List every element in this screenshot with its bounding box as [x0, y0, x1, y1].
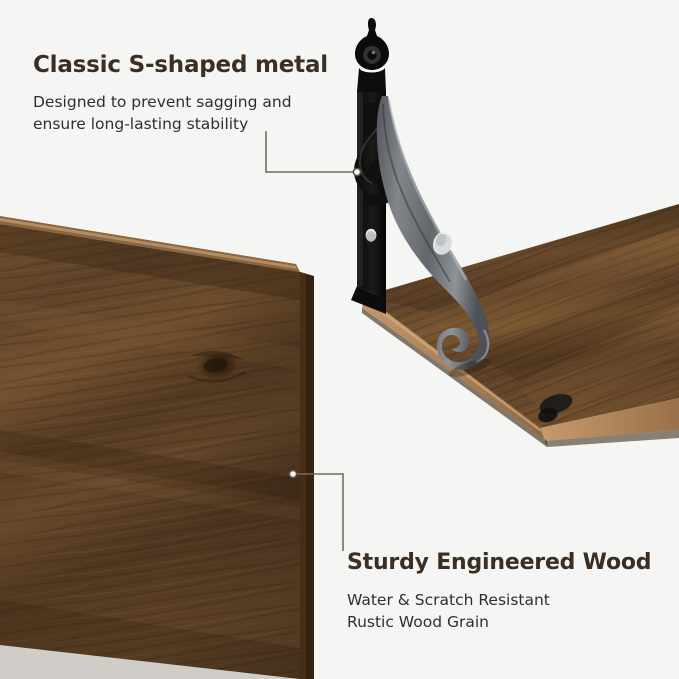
callout-top-body: Designed to prevent sagging and ensure l… [33, 91, 363, 135]
callout-bottom-body-line-1: Water & Scratch Resistant [347, 589, 667, 611]
callout-top-body-line-1: Designed to prevent sagging and [33, 91, 363, 113]
leader-marker-top [353, 168, 360, 175]
callout-metal-bracket: Classic S-shaped metal Designed to preve… [33, 52, 363, 135]
infographic-canvas: Classic S-shaped metal Designed to preve… [0, 0, 679, 679]
callout-bottom-heading: Sturdy Engineered Wood [347, 550, 667, 576]
leader-marker-bottom [289, 470, 296, 477]
callout-bottom-body-line-2: Rustic Wood Grain [347, 611, 667, 633]
callout-top-body-line-2: ensure long-lasting stability [33, 113, 363, 135]
callout-bottom-body: Water & Scratch Resistant Rustic Wood Gr… [347, 589, 667, 633]
callout-engineered-wood: Sturdy Engineered Wood Water & Scratch R… [347, 550, 667, 633]
callout-top-heading: Classic S-shaped metal [33, 52, 363, 80]
